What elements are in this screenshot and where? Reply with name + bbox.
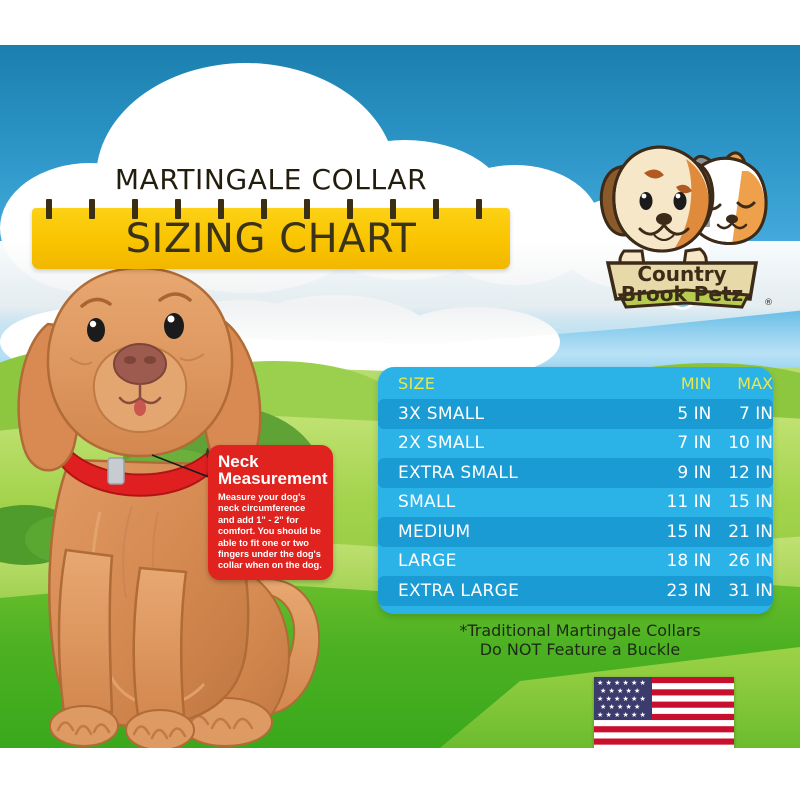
- illustrated-scene: Neck Measurement Measure your dog's neck…: [0, 45, 800, 748]
- logo-line2: Brook Petz: [621, 282, 743, 306]
- svg-text:★ ★ ★ ★ ★: ★ ★ ★ ★ ★: [600, 703, 640, 711]
- column-header-max: MAX: [711, 374, 773, 393]
- neck-measurement-callout: Neck Measurement Measure your dog's neck…: [208, 445, 333, 580]
- table-row: EXTRA LARGE 23 IN 31 IN: [378, 576, 773, 606]
- sizing-chart-image: Neck Measurement Measure your dog's neck…: [0, 0, 800, 800]
- ruler-banner: SIZING CHART: [32, 208, 510, 269]
- usa-flag: ★ ★ ★ ★ ★ ★ ★ ★ ★ ★ ★ ★ ★ ★ ★ ★ ★ ★ ★ ★ …: [594, 677, 734, 748]
- dog-logo-mark: [601, 147, 713, 271]
- cell-max: 21 IN: [711, 522, 773, 542]
- neck-pointer-line: [150, 451, 216, 483]
- page-title: SIZING CHART: [32, 208, 510, 269]
- cell-min: 9 IN: [627, 463, 712, 483]
- cell-min: 18 IN: [627, 551, 712, 571]
- cell-max: 12 IN: [711, 463, 773, 483]
- footnote-line-2: Do NOT Feature a Buckle: [400, 640, 760, 659]
- cell-max: 7 IN: [711, 404, 773, 424]
- cell-min: 7 IN: [627, 433, 712, 453]
- cell-max: 26 IN: [711, 551, 773, 571]
- cell-max: 31 IN: [711, 581, 773, 601]
- cell-size: SMALL: [378, 492, 627, 512]
- cell-size: EXTRA SMALL: [378, 463, 627, 483]
- table-row: 3X SMALL 5 IN 7 IN: [378, 399, 773, 429]
- svg-text:★ ★ ★ ★ ★ ★: ★ ★ ★ ★ ★ ★: [597, 679, 646, 687]
- table-row: SMALL 11 IN 15 IN: [378, 488, 773, 518]
- cell-size: 2X SMALL: [378, 433, 627, 453]
- cell-max: 10 IN: [711, 433, 773, 453]
- cell-size: EXTRA LARGE: [378, 581, 627, 601]
- size-chart-table: SIZE MIN MAX 3X SMALL 5 IN 7 IN 2X SMALL…: [378, 367, 773, 614]
- cell-min: 23 IN: [627, 581, 712, 601]
- svg-text:★ ★ ★ ★ ★ ★: ★ ★ ★ ★ ★ ★: [597, 695, 646, 703]
- svg-text:★ ★ ★ ★ ★ ★: ★ ★ ★ ★ ★ ★: [597, 711, 646, 719]
- cell-min: 11 IN: [627, 492, 712, 512]
- country-brook-petz-logo: Country Brook Petz ®: [592, 127, 772, 312]
- registered-mark-icon: ®: [764, 298, 772, 308]
- table-row: LARGE 18 IN 26 IN: [378, 547, 773, 577]
- cell-size: MEDIUM: [378, 522, 627, 542]
- column-header-min: MIN: [627, 374, 712, 393]
- page-supertitle: MARTINGALE COLLAR: [32, 163, 510, 196]
- table-row: MEDIUM 15 IN 21 IN: [378, 517, 773, 547]
- neck-callout-body: Measure your dog's neck circumference an…: [218, 492, 324, 572]
- cell-min: 5 IN: [627, 404, 712, 424]
- svg-text:★ ★ ★ ★ ★: ★ ★ ★ ★ ★: [600, 687, 640, 695]
- cell-size: 3X SMALL: [378, 404, 627, 424]
- neck-callout-title: Neck Measurement: [218, 453, 324, 487]
- footnote-line-1: *Traditional Martingale Collars: [400, 621, 760, 640]
- cell-size: LARGE: [378, 551, 627, 571]
- cell-max: 15 IN: [711, 492, 773, 512]
- cell-min: 15 IN: [627, 522, 712, 542]
- column-header-size: SIZE: [378, 374, 627, 393]
- table-header-row: SIZE MIN MAX: [378, 367, 773, 399]
- table-row: EXTRA SMALL 9 IN 12 IN: [378, 458, 773, 488]
- collar-footnote: *Traditional Martingale Collars Do NOT F…: [400, 621, 760, 659]
- table-row: 2X SMALL 7 IN 10 IN: [378, 429, 773, 459]
